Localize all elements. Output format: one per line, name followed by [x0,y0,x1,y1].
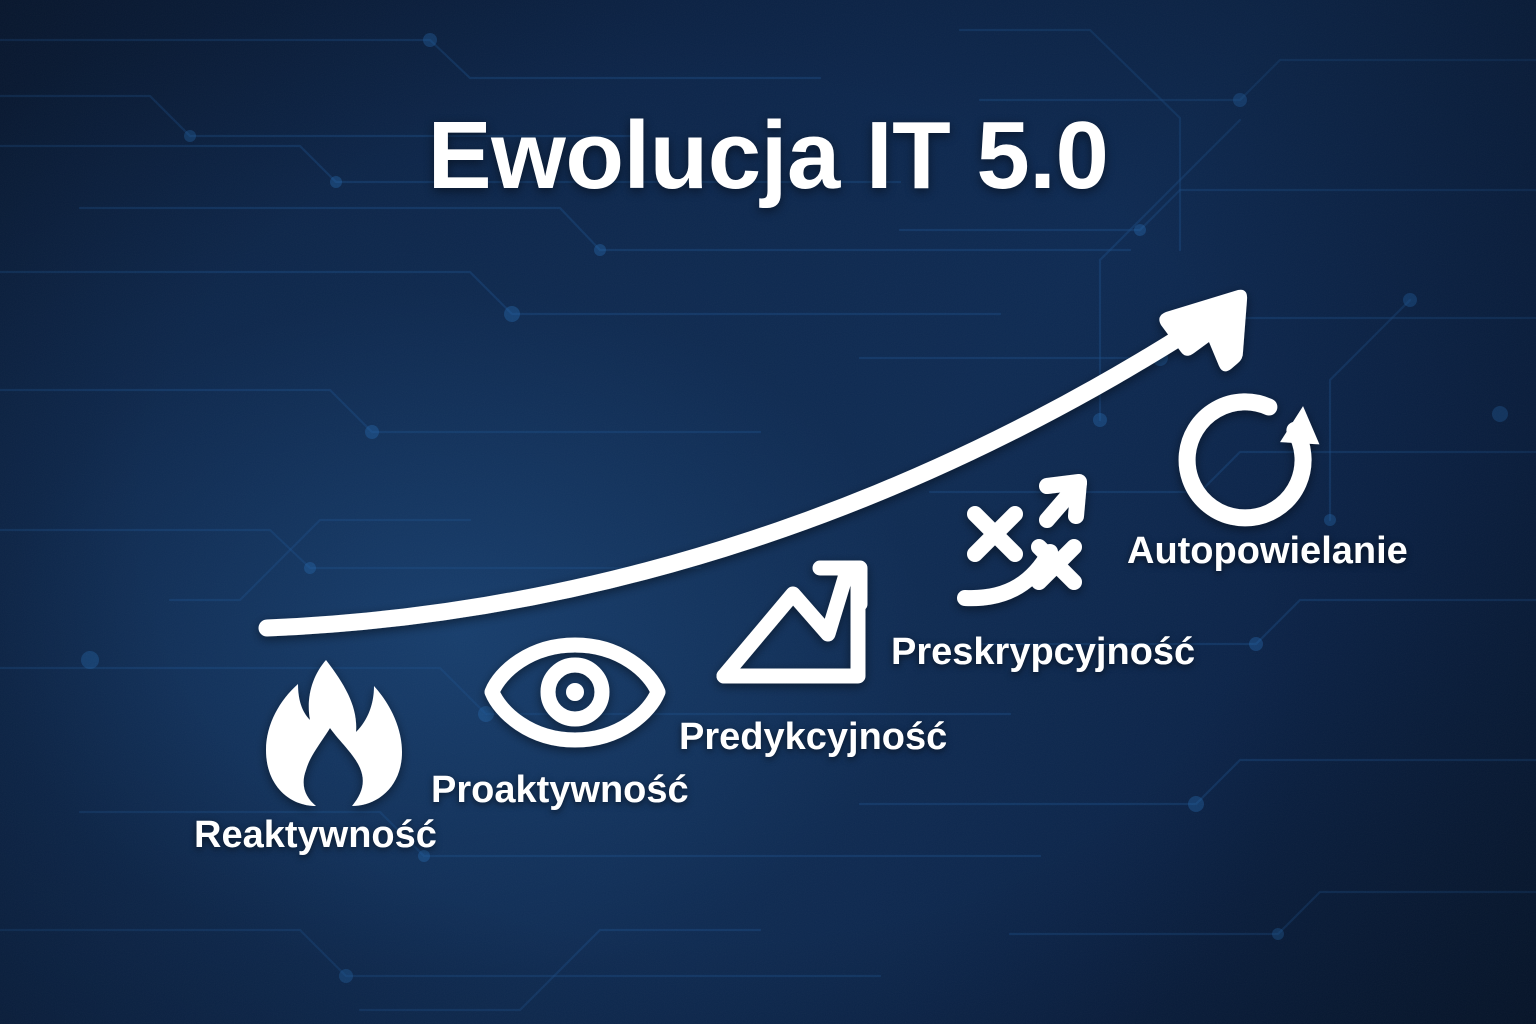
evolution-artwork [0,0,1536,1024]
strategy-icon [965,482,1079,598]
stage-label-predykcyjnosc: Predykcyjność [679,718,947,756]
chart-growth-icon [724,568,860,676]
refresh-cycle-icon [1164,379,1326,540]
slide-canvas: Ewolucja IT 5.0 [0,0,1536,1024]
stage-label-autopowielanie: Autopowielanie [1127,532,1408,570]
stage-label-reaktywnosc: Reaktywność [194,816,437,854]
flame-icon [266,660,402,806]
stage-label-proaktywnosc: Proaktywność [431,771,689,809]
growth-arrow [267,290,1247,628]
eye-icon [492,645,658,740]
stage-label-preskrypcyjnosc: Preskrypcyjność [891,633,1195,671]
